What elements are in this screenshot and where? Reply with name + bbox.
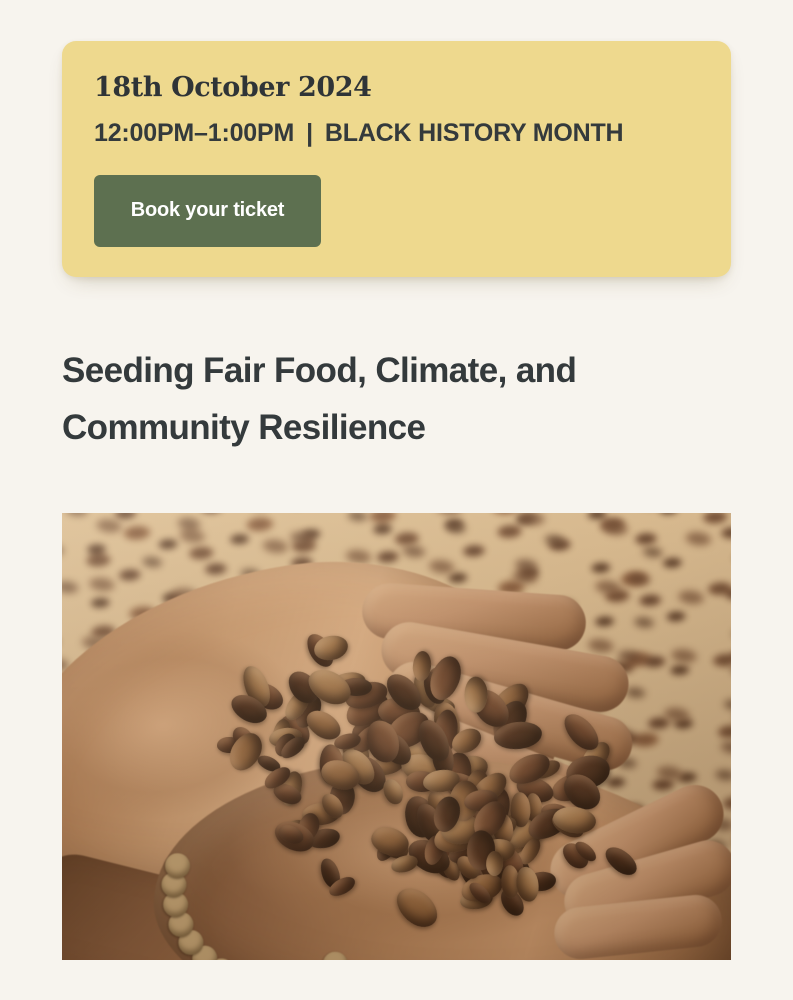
cocoa-bean <box>464 676 487 712</box>
hero-image <box>62 513 731 960</box>
page-title: Seeding Fair Food, Climate, and Communit… <box>62 343 662 456</box>
event-date: 18th October 2024 <box>94 74 731 102</box>
cocoa-bean <box>380 776 407 807</box>
cocoa-bean <box>601 842 642 881</box>
cocoa-beans-pile <box>62 513 731 960</box>
event-time: 12:00PM–1:00PM <box>94 120 294 148</box>
cocoa-bean <box>223 728 268 776</box>
cocoa-bean <box>389 880 444 934</box>
event-page: 18th October 2024 12:00PM–1:00PM | BLACK… <box>0 0 793 1000</box>
meta-separator: | <box>294 120 325 148</box>
event-meta-line: 12:00PM–1:00PM | BLACK HISTORY MONTH <box>94 120 731 148</box>
event-category: BLACK HISTORY MONTH <box>325 120 624 148</box>
event-banner-card: 18th October 2024 12:00PM–1:00PM | BLACK… <box>62 41 731 277</box>
book-your-ticket-button[interactable]: Book your ticket <box>94 175 321 247</box>
